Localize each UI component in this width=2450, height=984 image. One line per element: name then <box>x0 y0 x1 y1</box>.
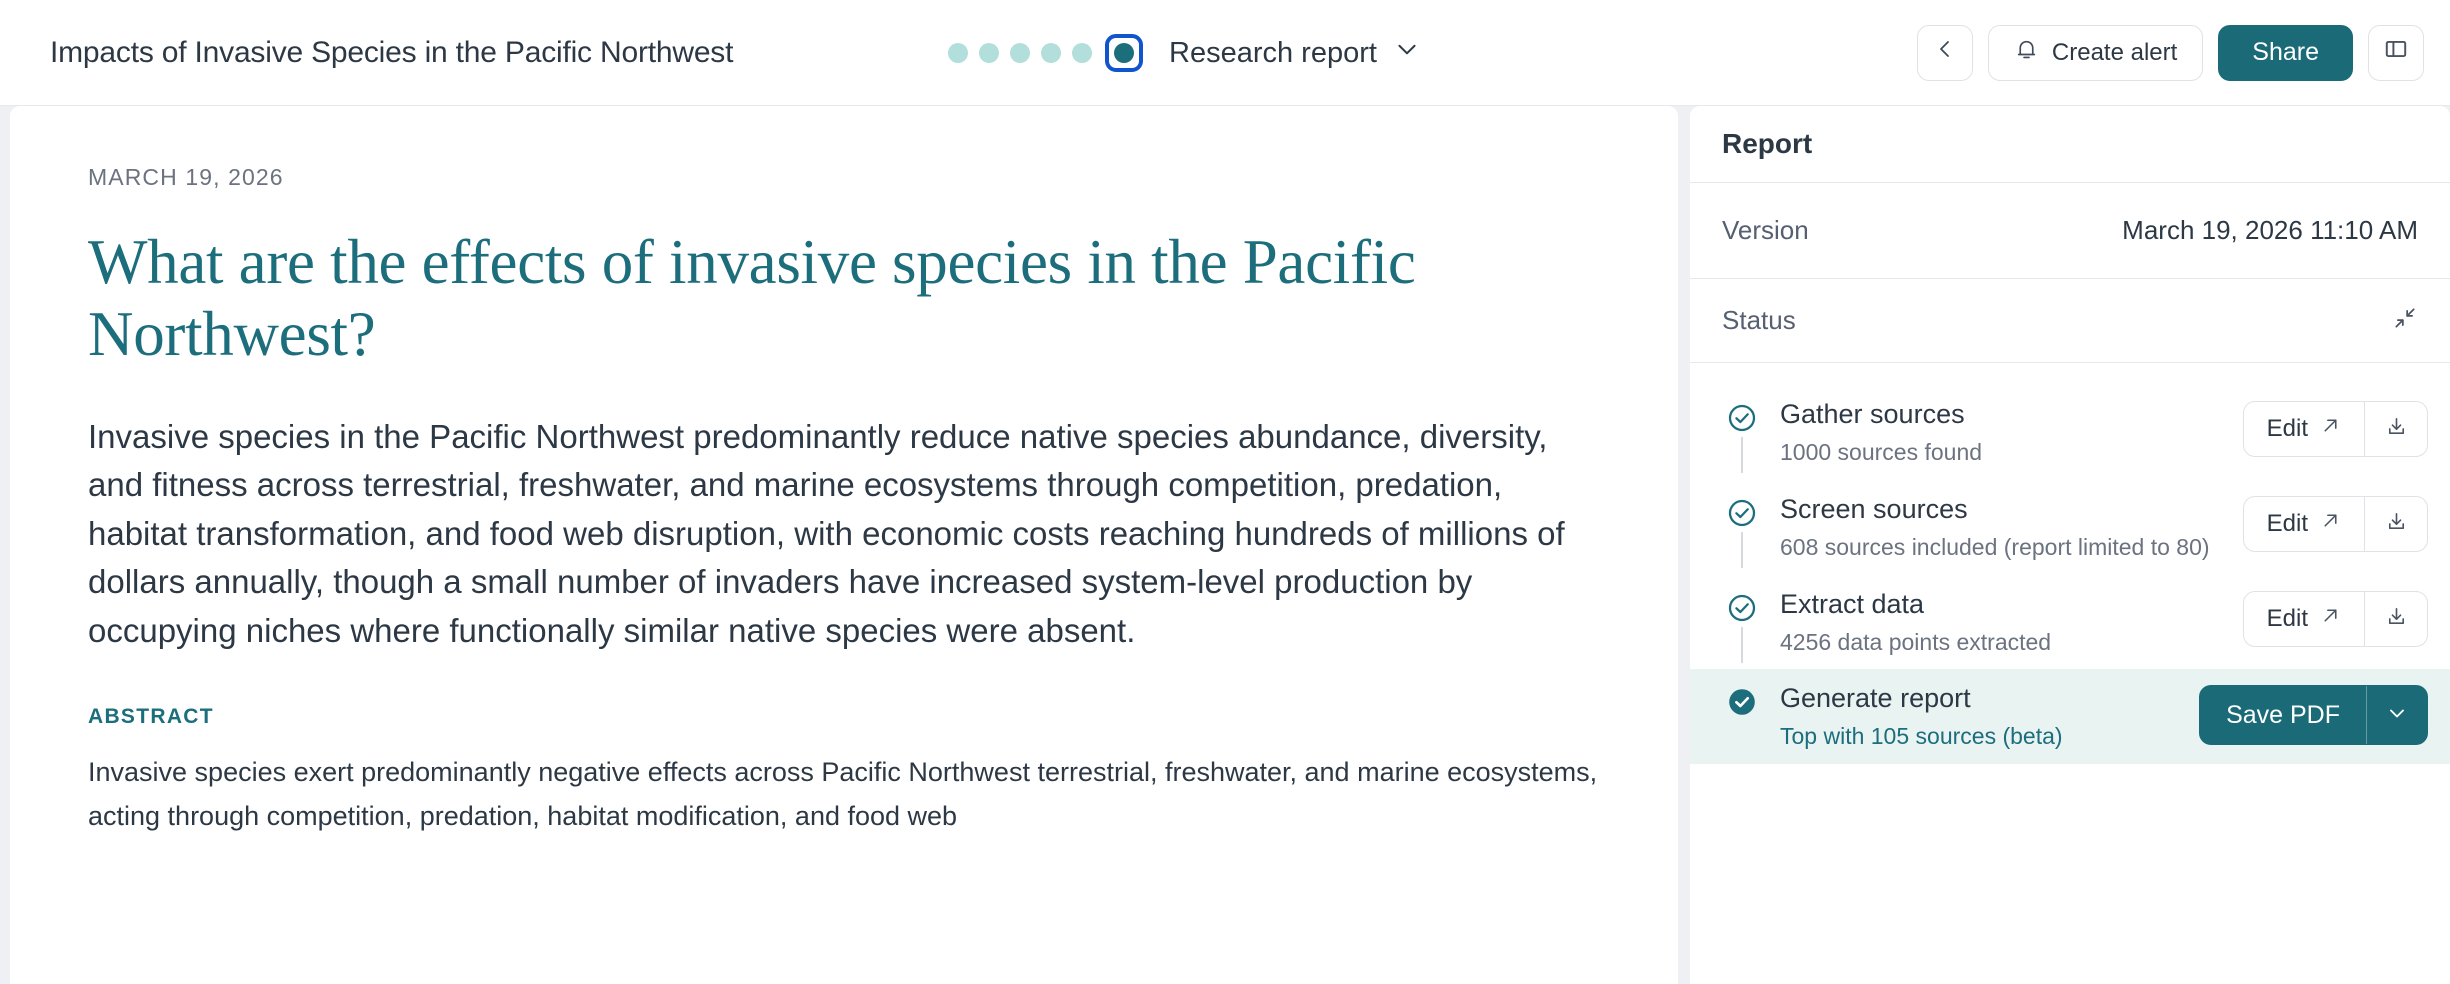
status-step-generate-report[interactable]: Generate report Top with 105 sources (be… <box>1690 669 2450 764</box>
step-marker <box>1726 681 1758 723</box>
step-connector <box>1741 437 1743 473</box>
report-type-label: Research report <box>1169 37 1377 70</box>
save-pdf-split-button[interactable]: Save PDF <box>2199 685 2428 745</box>
step-connector <box>1741 532 1743 568</box>
step-subtitle: 608 sources included (report limited to … <box>1780 532 2221 563</box>
arrow-up-right-icon <box>2320 415 2341 443</box>
abstract-section-label: ABSTRACT <box>88 705 1600 729</box>
step-marker <box>1726 397 1758 439</box>
app-header: Impacts of Invasive Species in the Pacif… <box>0 0 2450 106</box>
step-body: Gather sources 1000 sources found <box>1780 397 2221 468</box>
edit-button[interactable]: Edit <box>2244 402 2364 456</box>
step-body: Screen sources 608 sources included (rep… <box>1780 492 2221 563</box>
step-marker <box>1726 492 1758 534</box>
save-pdf-button[interactable]: Save PDF <box>2200 686 2366 744</box>
version-value: March 19, 2026 11:10 AM <box>2122 215 2418 246</box>
edit-button[interactable]: Edit <box>2244 497 2364 551</box>
report-sidebar: Report Version March 19, 2026 11:10 AM S… <box>1690 106 2450 984</box>
step-title: Screen sources <box>1780 494 2221 525</box>
step-title: Extract data <box>1780 589 2221 620</box>
document-lead-paragraph: Invasive species in the Pacific Northwes… <box>88 413 1600 656</box>
step-actions: Save PDF <box>2199 681 2428 745</box>
progress-dots[interactable] <box>948 34 1143 72</box>
edit-split-button[interactable]: Edit <box>2243 401 2428 457</box>
step-title: Generate report <box>1780 683 2177 714</box>
create-alert-label: Create alert <box>2052 39 2177 67</box>
back-button[interactable] <box>1917 25 1973 81</box>
step-body: Extract data 4256 data points extracted <box>1780 587 2221 658</box>
version-row: Version March 19, 2026 11:10 AM <box>1690 183 2450 279</box>
edit-label: Edit <box>2267 605 2308 633</box>
step-marker <box>1726 587 1758 629</box>
header-actions: Create alert Share <box>1917 25 2424 81</box>
progress-dot[interactable] <box>1072 43 1092 63</box>
check-circle-icon <box>1726 516 1758 533</box>
collapse-diagonal-icon[interactable] <box>2392 305 2418 336</box>
sidebar-title: Report <box>1690 106 2450 183</box>
check-circle-filled-icon <box>1726 705 1758 722</box>
download-icon <box>2385 605 2408 633</box>
save-pdf-label: Save PDF <box>2226 701 2340 730</box>
status-row: Status <box>1690 279 2450 363</box>
edit-label: Edit <box>2267 510 2308 538</box>
create-alert-button[interactable]: Create alert <box>1988 25 2203 81</box>
step-actions: Edit <box>2243 492 2428 552</box>
edit-button[interactable]: Edit <box>2244 592 2364 646</box>
status-label: Status <box>1722 305 1796 336</box>
status-steps: Gather sources 1000 sources found Edit <box>1690 363 2450 984</box>
progress-dot[interactable] <box>948 43 968 63</box>
status-step-gather-sources[interactable]: Gather sources 1000 sources found Edit <box>1690 385 2450 480</box>
download-icon <box>2385 510 2408 538</box>
check-circle-icon <box>1726 611 1758 628</box>
main-area: MARCH 19, 2026 What are the effects of i… <box>0 106 2450 984</box>
arrow-up-right-icon <box>2320 510 2341 538</box>
document-headline: What are the effects of invasive species… <box>88 227 1600 371</box>
step-actions: Edit <box>2243 587 2428 647</box>
download-icon <box>2385 415 2408 443</box>
chevron-down-icon <box>1394 36 1420 70</box>
panel-toggle-icon <box>2383 36 2409 69</box>
progress-dot-active[interactable] <box>1105 34 1143 72</box>
share-label: Share <box>2252 38 2319 67</box>
step-subtitle: Top with 105 sources (beta) <box>1780 721 2177 752</box>
panel-toggle-button[interactable] <box>2368 25 2424 81</box>
progress-dot[interactable] <box>979 43 999 63</box>
document-date: MARCH 19, 2026 <box>88 164 1600 191</box>
progress-dot-active-inner <box>1114 43 1134 63</box>
status-step-screen-sources[interactable]: Screen sources 608 sources included (rep… <box>1690 480 2450 575</box>
save-pdf-dropdown-button[interactable] <box>2367 686 2427 744</box>
chevron-left-icon <box>1933 37 1957 68</box>
version-label: Version <box>1722 215 1809 246</box>
edit-label: Edit <box>2267 415 2308 443</box>
step-actions: Edit <box>2243 397 2428 457</box>
report-type-dropdown[interactable]: Research report <box>1169 36 1420 70</box>
edit-split-button[interactable]: Edit <box>2243 496 2428 552</box>
bell-icon <box>2014 37 2039 69</box>
step-body: Generate report Top with 105 sources (be… <box>1780 681 2177 752</box>
download-button[interactable] <box>2365 402 2427 456</box>
header-center-group: Research report <box>948 0 1420 106</box>
document-panel: MARCH 19, 2026 What are the effects of i… <box>10 106 1678 984</box>
status-step-extract-data[interactable]: Extract data 4256 data points extracted … <box>1690 575 2450 670</box>
step-title: Gather sources <box>1780 399 2221 430</box>
step-connector <box>1741 627 1743 663</box>
step-subtitle: 1000 sources found <box>1780 437 2221 468</box>
edit-split-button[interactable]: Edit <box>2243 591 2428 647</box>
progress-dot[interactable] <box>1010 43 1030 63</box>
page-title: Impacts of Invasive Species in the Pacif… <box>50 36 733 70</box>
chevron-down-icon <box>2385 701 2409 730</box>
progress-dot[interactable] <box>1041 43 1061 63</box>
abstract-text: Invasive species exert predominantly neg… <box>88 751 1600 838</box>
step-subtitle: 4256 data points extracted <box>1780 627 2221 658</box>
arrow-up-right-icon <box>2320 605 2341 633</box>
share-button[interactable]: Share <box>2218 25 2353 81</box>
download-button[interactable] <box>2365 592 2427 646</box>
download-button[interactable] <box>2365 497 2427 551</box>
check-circle-icon <box>1726 421 1758 438</box>
